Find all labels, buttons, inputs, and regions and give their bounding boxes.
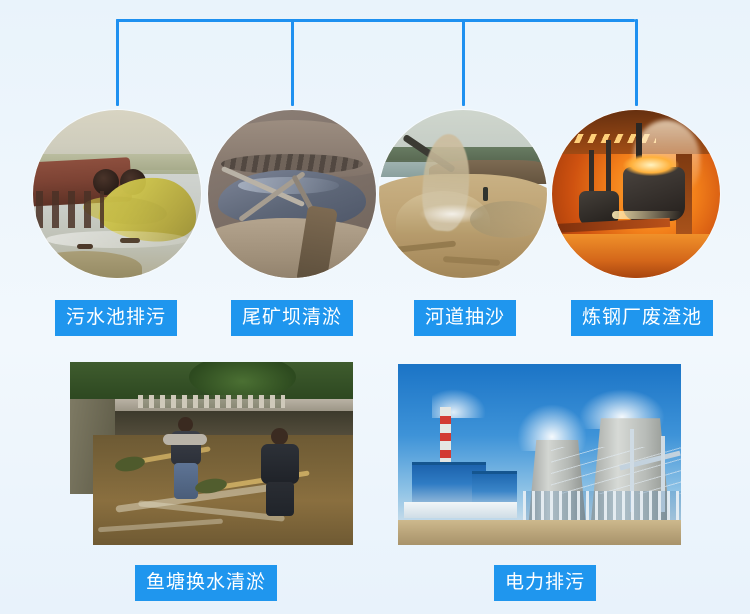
scene-label-power-plant[interactable]: 电力排污 (494, 565, 596, 601)
infographic-canvas: 污水池排污 尾矿坝清淤 河道抽沙 炼钢厂废渣池 (0, 0, 750, 614)
scene-label-sewage-pond[interactable]: 污水池排污 (55, 300, 177, 336)
bracket-horizontal-line (116, 19, 635, 22)
river-sand-illustration (379, 110, 547, 278)
worker-figure (166, 417, 206, 516)
connector-bracket (0, 0, 750, 110)
scene-image-sewage-pond[interactable] (33, 110, 201, 278)
power-plant-illustration (398, 364, 681, 545)
bracket-stem-3 (462, 19, 465, 106)
scene-image-river-sand[interactable] (379, 110, 547, 278)
scene-label-tailings-dam[interactable]: 尾矿坝清淤 (231, 300, 353, 336)
scene-label-steel-mill[interactable]: 炼钢厂废渣池 (571, 300, 713, 336)
worker-figure (257, 428, 305, 530)
scene-image-fish-pond[interactable] (70, 362, 353, 545)
fish-pond-illustration (70, 362, 353, 545)
bracket-stem-1 (116, 19, 119, 106)
scene-label-river-sand[interactable]: 河道抽沙 (414, 300, 516, 336)
scene-image-steel-mill[interactable] (552, 110, 720, 278)
scene-label-fish-pond[interactable]: 鱼塘换水清淤 (135, 565, 277, 601)
bracket-stem-4 (635, 19, 638, 106)
bracket-stem-2 (291, 19, 294, 106)
sewage-pond-illustration (33, 110, 201, 278)
steel-mill-illustration (552, 110, 720, 278)
tailings-dam-illustration (208, 110, 376, 278)
scene-image-tailings-dam[interactable] (208, 110, 376, 278)
scene-image-power-plant[interactable] (398, 364, 681, 545)
